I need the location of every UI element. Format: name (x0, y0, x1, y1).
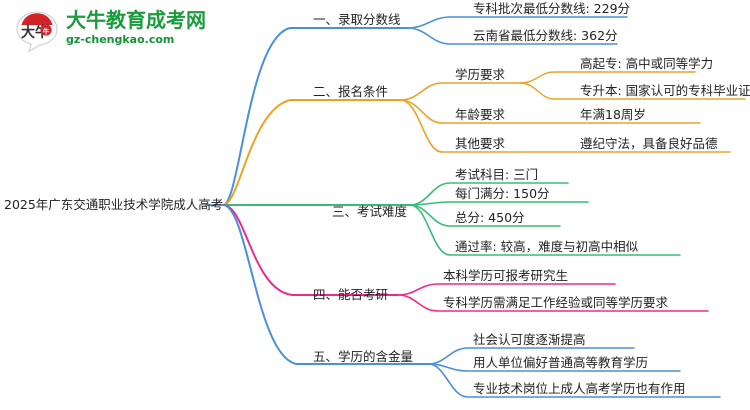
branch-3-child-4-label[interactable]: 通过率: 较高，难度与初高中相似 (455, 240, 638, 254)
branch-4-child-1-label[interactable]: 本科学历可报考研究生 (443, 269, 568, 283)
branch-1-spine (223, 28, 408, 205)
branch-5-child-1-label[interactable]: 社会认可度逐渐提高 (473, 333, 586, 347)
branch-2-child-1-link (400, 83, 520, 100)
branch-3-child-1-label[interactable]: 考试科目: 三门 (455, 168, 538, 182)
branch-3-child-2-link (410, 202, 588, 205)
branch-2-child-2-label[interactable]: 年龄要求 (455, 108, 505, 122)
branch-4-label[interactable]: 四、能否考研 (313, 288, 388, 302)
branch-1-child-2-label[interactable]: 云南省最低分数线: 362分 (473, 29, 618, 43)
branch-1-child-1-link (408, 17, 627, 28)
branch-3-child-3-label[interactable]: 总分: 450分 (455, 211, 525, 225)
mindmap-canvas: 大牛 牛 大牛教育成考网 gz-chengkao.com (0, 0, 750, 410)
branch-5-label[interactable]: 五、学历的含金量 (313, 350, 413, 364)
branch-3-child-2-label[interactable]: 每门满分: 150分 (455, 187, 550, 201)
branch-2-grandchild-1-label[interactable]: 高起专: 高中或同等学力 (580, 57, 713, 71)
branch-4-child-2-label[interactable]: 专科学历需满足工作经验或同等学历要求 (443, 296, 668, 310)
branch-2-label[interactable]: 二、报名条件 (313, 85, 388, 99)
branch-2-grandchild-4-label[interactable]: 遵纪守法，具备良好品德 (580, 137, 718, 151)
branch-1-child-1-label[interactable]: 专科批次最低分数线: 229分 (473, 2, 630, 16)
branch-3-label[interactable]: 三、考试难度 (332, 205, 407, 219)
branch-4-child-1-link (398, 284, 615, 295)
branch-1-label[interactable]: 一、录取分数线 (313, 13, 401, 27)
branch-2-spine (223, 100, 400, 205)
branch-2-grandchild-2-label[interactable]: 专升本: 国家认可的专科毕业证书 (580, 84, 750, 98)
root-node-label[interactable]: 2025年广东交通职业技术学院成人高考 (4, 198, 223, 212)
branch-5-child-3-label[interactable]: 专业技术岗位上成人高考学历也有作用 (473, 382, 686, 396)
branch-2-grandchild-1-link (520, 72, 695, 83)
branch-2-child-3-label[interactable]: 其他要求 (455, 137, 505, 151)
branch-2-child-1-label[interactable]: 学历要求 (455, 68, 505, 82)
branch-5-child-2-label[interactable]: 用人单位偏好普通高等教育学历 (473, 356, 648, 370)
branch-5-spine (223, 205, 428, 364)
branch-2-grandchild-3-label[interactable]: 年满18周岁 (580, 108, 646, 122)
